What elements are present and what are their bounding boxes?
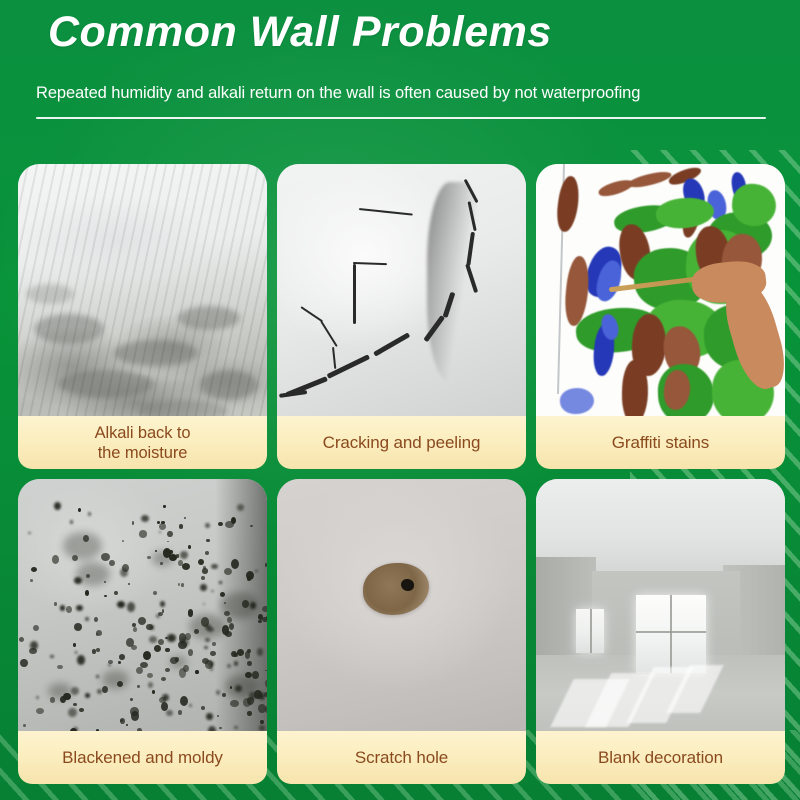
problem-tile-cracking[interactable]: Cracking and peeling xyxy=(277,164,526,469)
tile-caption-graffiti: Graffiti stains xyxy=(536,416,785,469)
child-painting-wall-photo xyxy=(536,164,785,424)
cracked-peeling-wall-photo xyxy=(277,164,526,424)
caption-line-1: Alkali back to xyxy=(95,424,191,442)
caption-line-2: the moisture xyxy=(98,444,188,462)
tile-caption-blank: Blank decoration xyxy=(536,731,785,784)
problem-grid: Alkali back to the moisture xyxy=(18,164,786,794)
tile-caption-cracking: Cracking and peeling xyxy=(277,416,526,469)
grid-row: Alkali back to the moisture xyxy=(18,164,786,469)
efflorescence-wall-photo xyxy=(18,164,267,424)
problem-tile-blank[interactable]: Blank decoration xyxy=(536,479,785,784)
page-subtitle: Repeated humidity and alkali return on t… xyxy=(36,84,640,103)
tile-caption-mold: Blackened and moldy xyxy=(18,731,267,784)
grid-row: Blackened and moldy Scratch hole xyxy=(18,479,786,784)
poster-header: Common Wall Problems Repeated humidity a… xyxy=(0,0,800,130)
page-title: Common Wall Problems xyxy=(48,8,552,57)
header-divider xyxy=(36,117,766,119)
tile-caption-alkali: Alkali back to the moisture xyxy=(18,416,267,469)
problem-tile-alkali[interactable]: Alkali back to the moisture xyxy=(18,164,267,469)
poster-canvas: Common Wall Problems Repeated humidity a… xyxy=(0,0,800,800)
problem-tile-scratch[interactable]: Scratch hole xyxy=(277,479,526,784)
tile-caption-scratch: Scratch hole xyxy=(277,731,526,784)
wall-hole-photo xyxy=(277,479,526,739)
problem-tile-mold[interactable]: Blackened and moldy xyxy=(18,479,267,784)
empty-room-photo xyxy=(536,479,785,739)
moldy-wall-photo xyxy=(18,479,267,739)
problem-tile-graffiti[interactable]: Graffiti stains xyxy=(536,164,785,469)
